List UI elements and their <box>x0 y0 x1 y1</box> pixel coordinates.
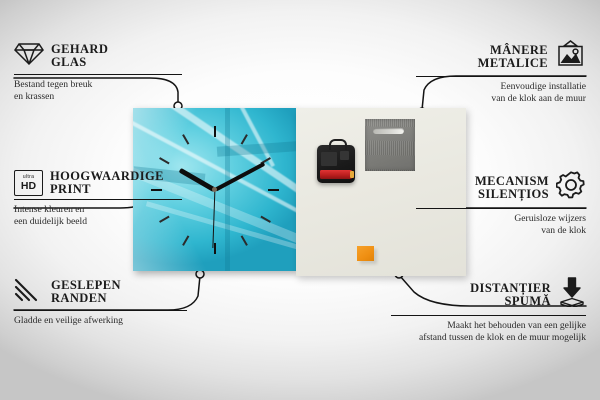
infographic-canvas: GEHARD GLAS Bestand tegen breuk en krass… <box>0 0 600 400</box>
hanging-loop-icon <box>329 139 347 150</box>
ultra-hd-big-label: HD <box>21 181 36 192</box>
feature-rule <box>14 199 182 200</box>
feature-description: Maakt het behouden van een gelijke afsta… <box>391 320 586 344</box>
feature-rule <box>14 310 187 311</box>
feature-description: Geruisloze wijzers van de klok <box>416 213 586 237</box>
feature-description: Intense kleuren en een duidelijk beeld <box>14 204 184 228</box>
foam-spacer <box>357 246 374 261</box>
picture-hanger-icon <box>555 40 586 73</box>
feature-rule <box>416 208 586 209</box>
feature-description: Eenvoudige installatie van de klok aan d… <box>416 81 586 105</box>
feature-title: GESLEPEN RANDEN <box>51 279 121 305</box>
clock-mechanism-box <box>317 145 355 183</box>
gear-icon <box>556 170 586 205</box>
battery <box>320 170 352 179</box>
feature-title: MECANISM SILENȚIOS <box>475 175 549 201</box>
feature-manere-metalice: MÂNERE METALICE Eenvoudige installatie v… <box>416 40 586 105</box>
feature-geslepen-randen: GESLEPEN RANDEN Gladde en veilige afwerk… <box>14 277 189 327</box>
feature-description: Bestand tegen breuk en krassen <box>14 79 184 103</box>
feature-title: HOOGWAARDIGE PRINT <box>50 170 164 196</box>
feature-mecanism-silentios: MECANISM SILENȚIOS Geruisloze wijzers va… <box>416 170 586 237</box>
feature-gehard-glas: GEHARD GLAS Bestand tegen breuk en krass… <box>14 40 184 103</box>
diamond-icon <box>14 40 44 71</box>
feature-rule <box>14 74 182 75</box>
feature-title: MÂNERE METALICE <box>478 44 548 70</box>
feature-title: DISTANȚIER SPUMĂ <box>470 282 551 308</box>
spacer-arrow-icon <box>558 277 586 312</box>
feature-description: Gladde en veilige afwerking <box>14 315 189 327</box>
ultra-hd-icon: ultra HD <box>14 170 43 196</box>
feature-rule <box>416 76 586 77</box>
feature-hoogwaardige-print: ultra HD HOOGWAARDIGE PRINT Intense kleu… <box>14 170 184 228</box>
feature-rule <box>391 315 586 316</box>
feature-title: GEHARD GLAS <box>51 43 108 69</box>
metal-hanger-plate <box>365 119 415 171</box>
clock-center-pin <box>212 187 217 192</box>
feature-distantier-spuma: DISTANȚIER SPUMĂ Maakt het behouden van … <box>391 277 586 344</box>
beveled-edges-icon <box>14 277 44 307</box>
